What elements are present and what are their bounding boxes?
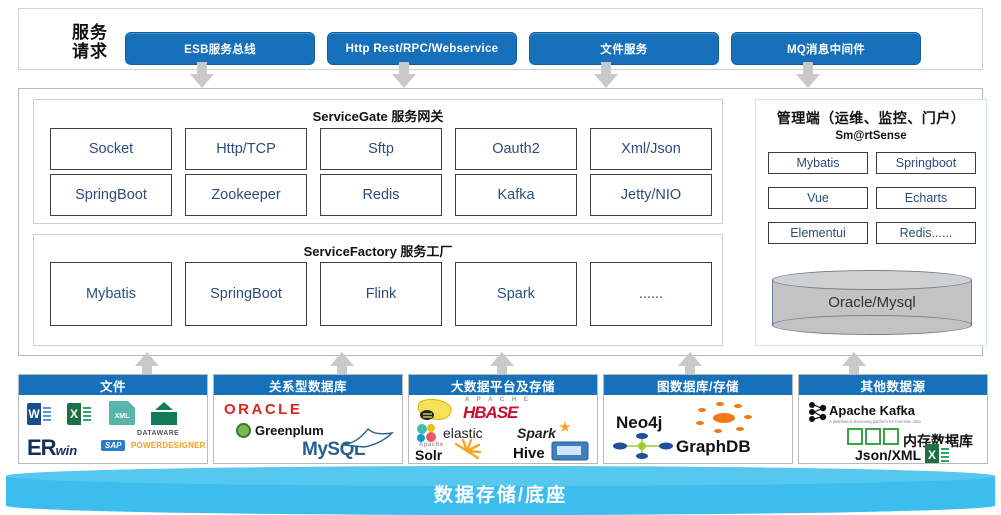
excel-icon-other-letter: X (925, 444, 939, 463)
mysql-dolphin-icon (342, 423, 394, 449)
greenplum-logo: Greenplum (236, 423, 324, 438)
datasource-other[interactable]: 其他数据源 Apache Kafka A distributed streami… (798, 374, 988, 464)
platform-container: ServiceGate 服务网关 Socket Http/TCP Sftp Oa… (18, 88, 983, 356)
service-request-label-line1: 服务 (55, 23, 125, 42)
memory-db-icon (847, 428, 899, 445)
mgmt-cell-echarts[interactable]: Echarts (876, 187, 976, 209)
gate-cell-kafka[interactable]: Kafka (455, 174, 577, 216)
architecture-diagram: 服务 请求 ESB服务总线 Http Rest/RPC/Webservice 文… (0, 0, 1001, 515)
factory-cell-mybatis[interactable]: Mybatis (50, 262, 172, 326)
request-button-esb[interactable]: ESB服务总线 (125, 32, 315, 65)
arrow-down-file (594, 62, 618, 88)
hive-logo: Hive (513, 445, 545, 462)
hive-bee-icon (415, 397, 457, 423)
sap-logo: SAP (101, 440, 125, 451)
kafka-icon (807, 401, 827, 423)
dataware-logo-text: DATAWARE (137, 430, 179, 437)
spark-star-icon (559, 421, 571, 433)
xml-file-label: XML (109, 413, 135, 420)
erwin-logo-win: win (56, 443, 78, 458)
request-button-http[interactable]: Http Rest/RPC/Webservice (327, 32, 517, 65)
gate-cell-http-tcp[interactable]: Http/TCP (185, 128, 307, 170)
greenplum-logo-text: Greenplum (255, 423, 324, 438)
datasource-bigdata[interactable]: 大数据平台及存储 A P A C H E HBASE elastic Spark… (408, 374, 598, 464)
json-xml-label: Json/XML (855, 447, 921, 463)
kafka-tagline: A distributed streaming platform for rea… (829, 419, 937, 424)
service-factory-title: ServiceFactory 服务工厂 (34, 241, 722, 260)
management-database-label: Oracle/Mysql (772, 294, 972, 311)
service-request-bar: 服务 请求 ESB服务总线 Http Rest/RPC/Webservice 文… (18, 8, 983, 70)
hbase-logo: HBASE (463, 403, 518, 423)
factory-cell-flink[interactable]: Flink (320, 262, 442, 326)
factory-cell-springboot[interactable]: SpringBoot (185, 262, 307, 326)
datasource-rdbms-body: ORACLE Greenplum MySQL (214, 395, 402, 463)
mgmt-cell-mybatis[interactable]: Mybatis (768, 152, 868, 174)
service-gate-title: ServiceGate 服务网关 (34, 106, 722, 125)
spark-logo: Spark (517, 425, 556, 441)
datasource-file-body: W X XML DATAWARE ER win SAP POWERDE (19, 395, 207, 463)
xml-file-icon: XML (109, 401, 135, 425)
gate-cell-socket[interactable]: Socket (50, 128, 172, 170)
arrow-down-esb (190, 62, 214, 88)
gate-cell-zookeeper[interactable]: Zookeeper (185, 174, 307, 216)
gate-cell-oauth2[interactable]: Oauth2 (455, 128, 577, 170)
request-button-file[interactable]: 文件服务 (529, 32, 719, 65)
gate-cell-redis[interactable]: Redis (320, 174, 442, 216)
arrow-down-mq (796, 62, 820, 88)
base-label: 数据存储/底座 (0, 480, 1001, 507)
elastic-icon (415, 423, 439, 443)
management-title: 管理端（运维、监控、门户） (756, 108, 986, 128)
management-database-cylinder: Oracle/Mysql (772, 270, 972, 335)
service-request-label: 服务 请求 (55, 23, 125, 61)
mgmt-cell-elementui[interactable]: Elementui (768, 222, 868, 244)
datasource-graphdb-title: 图数据库/存储 (604, 375, 792, 395)
arrow-down-http (392, 62, 416, 88)
datasource-other-title: 其他数据源 (799, 375, 987, 395)
graphdb-orange-graph-icon (690, 401, 756, 435)
datasource-bigdata-body: A P A C H E HBASE elastic Spark Apache S… (409, 395, 597, 463)
datasource-rdbms-title: 关系型数据库 (214, 375, 402, 395)
factory-cell-more[interactable]: ...... (590, 262, 712, 326)
data-storage-base: 数据存储/底座 (0, 466, 1001, 515)
gate-cell-springboot[interactable]: SpringBoot (50, 174, 172, 216)
datasource-other-body: Apache Kafka A distributed streaming pla… (799, 395, 987, 463)
service-request-label-line2: 请求 (55, 42, 125, 61)
graphdb-blue-graph-icon (612, 433, 674, 459)
mgmt-cell-redis[interactable]: Redis...... (876, 222, 976, 244)
service-gate-panel: ServiceGate 服务网关 Socket Http/TCP Sftp Oa… (33, 99, 723, 224)
cylinder-bottom (772, 315, 972, 335)
oracle-logo: ORACLE (224, 401, 302, 418)
powerdesigner-logo: POWERDESIGNER (131, 441, 206, 450)
datasource-graphdb-body: Neo4j GraphDB (604, 395, 792, 463)
datasource-graphdb[interactable]: 图数据库/存储 Neo4j (603, 374, 793, 464)
factory-cell-spark[interactable]: Spark (455, 262, 577, 326)
solr-sun-icon (453, 439, 481, 463)
gate-cell-jetty-nio[interactable]: Jetty/NIO (590, 174, 712, 216)
word-icon-letter: W (27, 403, 41, 425)
datasource-bigdata-title: 大数据平台及存储 (409, 375, 597, 395)
hive-badge-icon (551, 441, 589, 461)
excel-icon-other: X (925, 444, 951, 463)
gate-cell-sftp[interactable]: Sftp (320, 128, 442, 170)
word-icon: W (27, 403, 53, 425)
graphdb-logo: GraphDB (676, 437, 751, 457)
cylinder-top (772, 270, 972, 290)
excel-icon: X (67, 403, 93, 425)
datasource-file-title: 文件 (19, 375, 207, 395)
management-panel: 管理端（运维、监控、门户） Sm@rtSense Mybatis Springb… (755, 99, 987, 346)
neo4j-logo: Neo4j (616, 413, 662, 433)
kafka-logo: Apache Kafka (829, 403, 915, 418)
service-factory-panel: ServiceFactory 服务工厂 Mybatis SpringBoot F… (33, 234, 723, 346)
datasource-file[interactable]: 文件 W X XML DATAWARE ER win (18, 374, 208, 464)
request-button-mq[interactable]: MQ消息中间件 (731, 32, 921, 65)
gate-cell-xml-json[interactable]: Xml/Json (590, 128, 712, 170)
mgmt-cell-springboot[interactable]: Springboot (876, 152, 976, 174)
mgmt-cell-vue[interactable]: Vue (768, 187, 868, 209)
datasource-rdbms[interactable]: 关系型数据库 ORACLE Greenplum MySQL (213, 374, 403, 464)
green-db-icon (151, 402, 177, 425)
excel-icon-letter: X (67, 403, 81, 425)
solr-logo: Solr (415, 447, 442, 463)
management-subtitle: Sm@rtSense (756, 130, 986, 142)
erwin-logo-er: ER (27, 435, 56, 461)
erwin-logo: ER win (27, 435, 77, 461)
dataware-logo: DATAWARE (137, 430, 179, 437)
